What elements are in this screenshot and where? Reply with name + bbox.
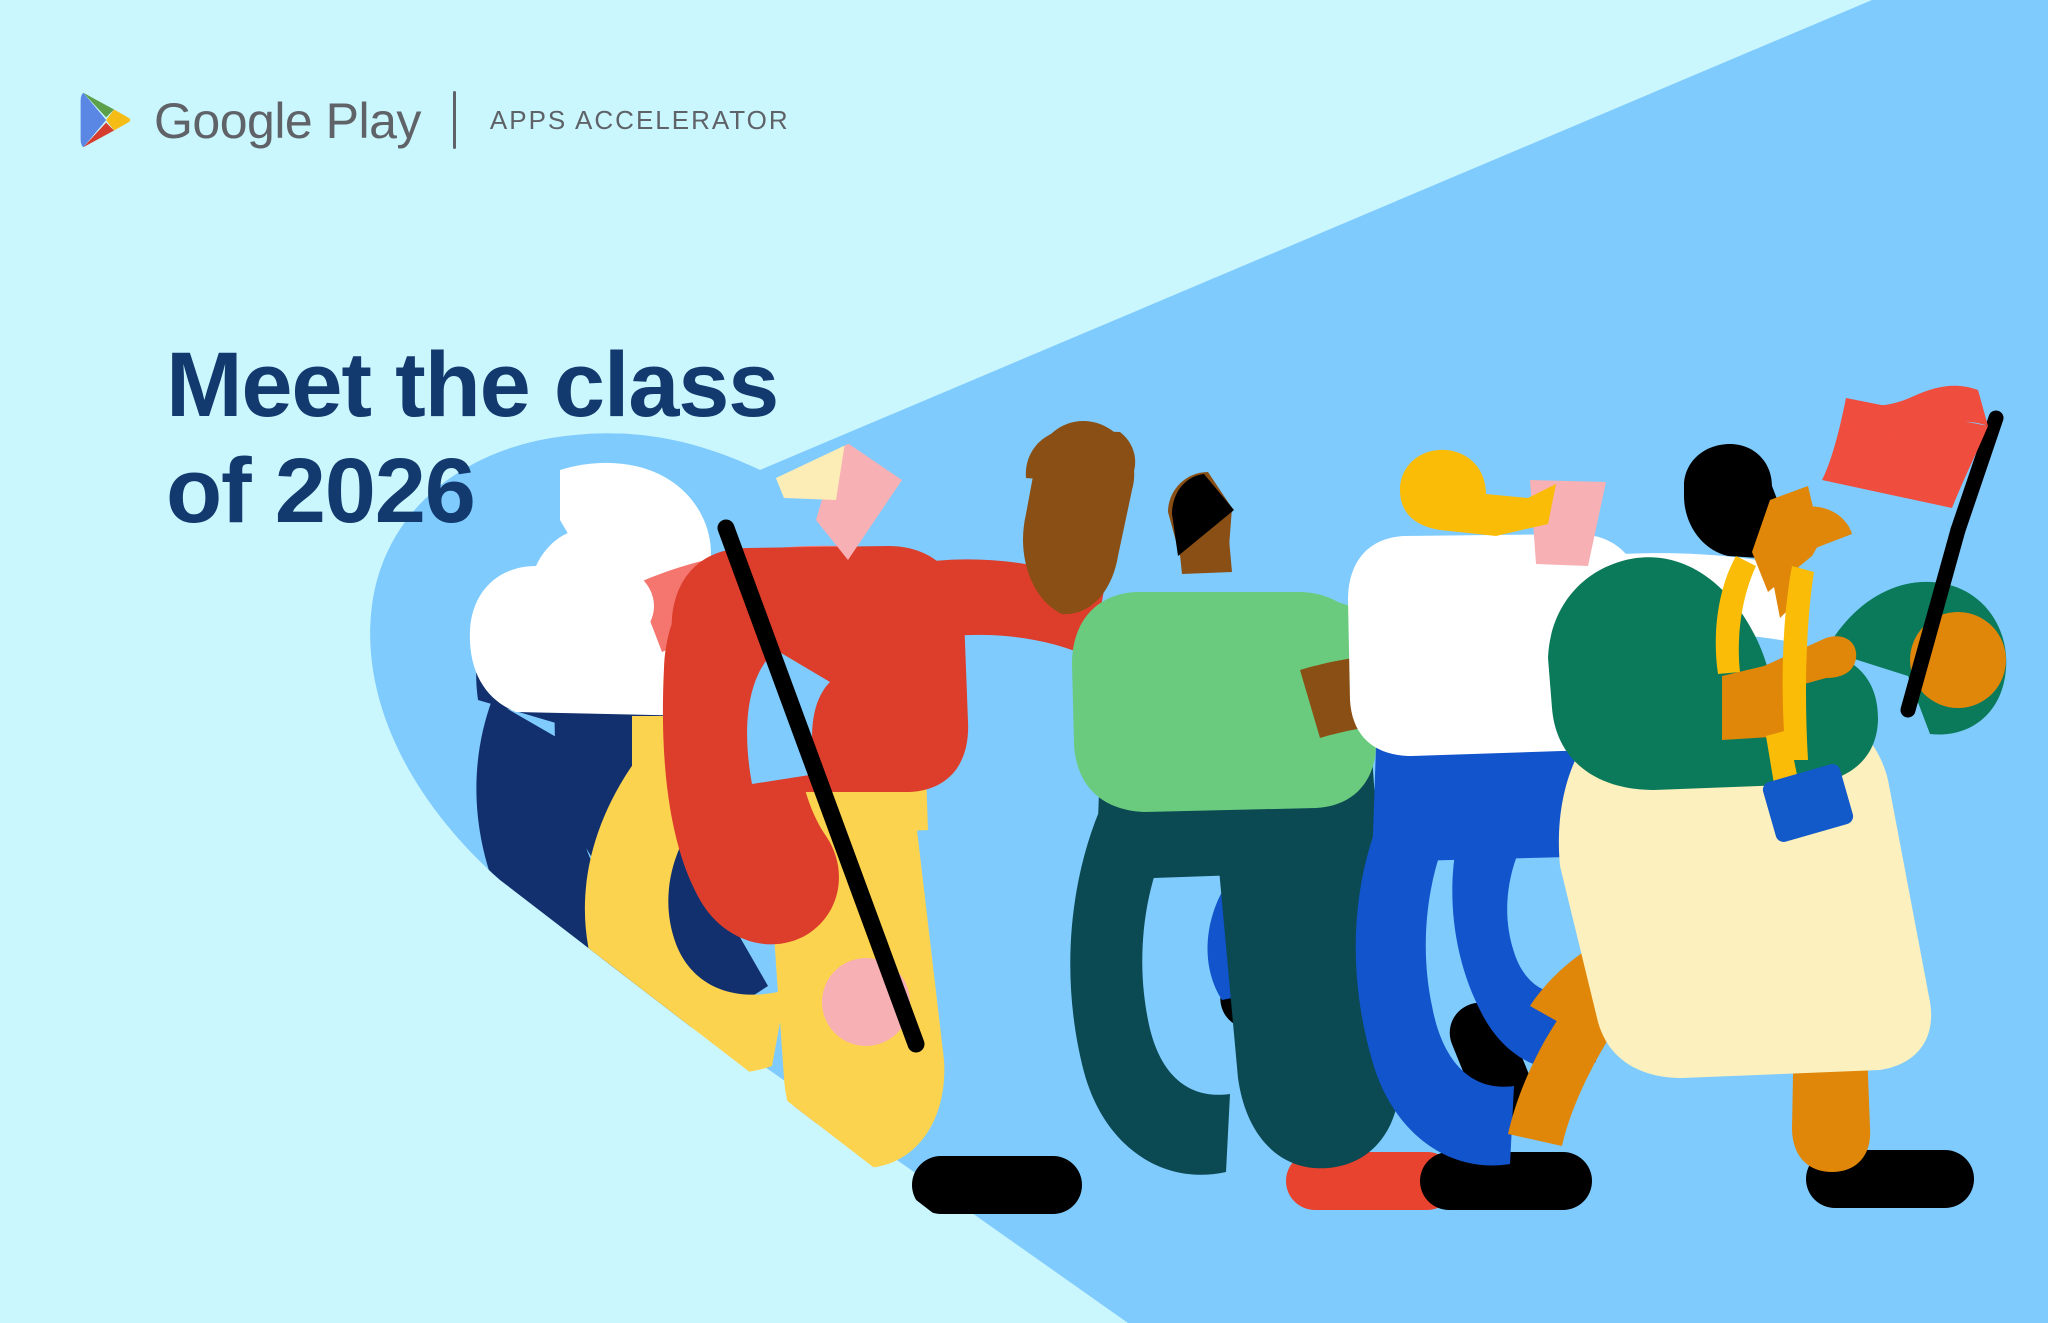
headline-line-2: of 2026	[166, 438, 778, 545]
nose-orange	[1800, 506, 1852, 554]
brand-lockup: Google Play APPS ACCELERATOR	[78, 88, 790, 152]
page-title: Meet the class of 2026	[166, 332, 778, 545]
brand-wordmark: Google Play	[154, 96, 421, 146]
hero-banner: Google Play APPS ACCELERATOR Meet the cl…	[0, 0, 2048, 1323]
google-play-triangle-icon	[78, 91, 136, 149]
fist-brown	[1026, 430, 1135, 486]
headline-line-1: Meet the class	[166, 332, 778, 439]
brand-divider	[453, 91, 456, 149]
shoe-black-front	[912, 1156, 1082, 1214]
hand-white	[542, 562, 654, 650]
people-illustration	[0, 0, 2048, 1323]
brand-sub-label: APPS ACCELERATOR	[490, 105, 790, 136]
